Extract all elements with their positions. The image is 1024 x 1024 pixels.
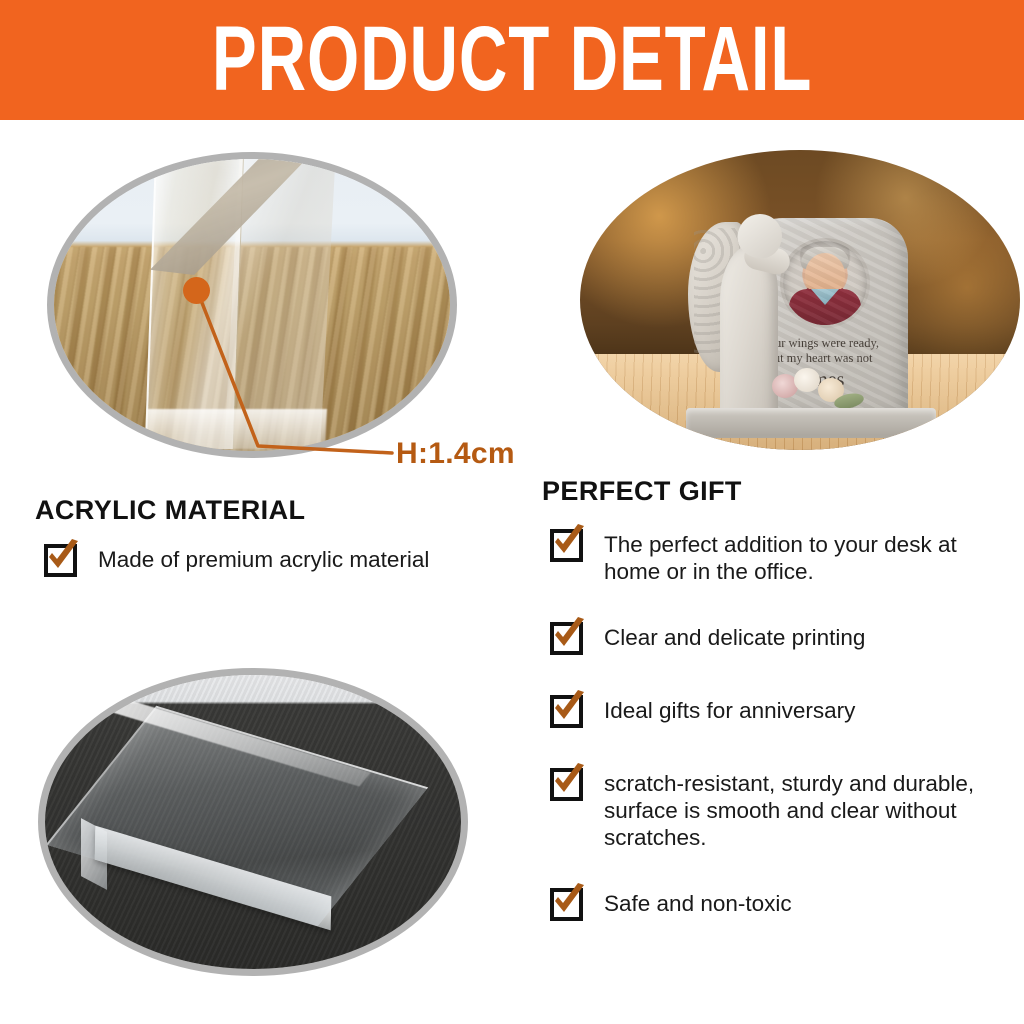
checkbox-icon <box>546 614 590 658</box>
product-detail-page: PRODUCT DETAIL Your wings were ready, bu… <box>0 0 1024 1024</box>
list-item-label: The perfect addition to your desk at hom… <box>590 525 1004 585</box>
list-item: scratch-resistant, sturdy and durable, s… <box>546 764 1016 851</box>
list-item-label: Safe and non-toxic <box>590 884 792 917</box>
photo-acrylic-slab-on-slate <box>38 668 468 976</box>
page-title: PRODUCT DETAIL <box>212 14 812 106</box>
photo-angel-memorial-product: Your wings were ready, but my heart was … <box>580 150 1020 450</box>
checkmark-icon <box>546 880 590 924</box>
list-item: Ideal gifts for anniversary <box>546 691 1016 731</box>
dimension-label: H:1.4cm <box>396 437 515 471</box>
portrait-sweater <box>789 289 861 328</box>
section-heading-perfect-gift: PERFECT GIFT <box>542 476 742 507</box>
list-item: The perfect addition to your desk at hom… <box>546 525 1016 585</box>
feature-list-perfect-gift: The perfect addition to your desk at hom… <box>546 525 1016 957</box>
page-header-banner: PRODUCT DETAIL <box>0 0 1024 120</box>
memorial-base-plinth <box>686 408 936 438</box>
list-item: Safe and non-toxic <box>546 884 1016 924</box>
feature-list-acrylic-material: Made of premium acrylic material <box>40 540 520 608</box>
checkbox-icon <box>546 521 590 565</box>
portrait-collar <box>811 289 839 305</box>
portrait-face <box>805 253 845 297</box>
checkmark-icon <box>546 760 590 804</box>
list-item-label: Ideal gifts for anniversary <box>590 691 855 724</box>
checkmark-icon <box>546 521 590 565</box>
list-item-label: Made of premium acrylic material <box>84 540 429 573</box>
checkmark-icon <box>40 536 84 580</box>
rose-white <box>794 368 820 392</box>
section-heading-acrylic-material: ACRYLIC MATERIAL <box>35 495 305 526</box>
checkbox-icon <box>546 880 590 924</box>
checkbox-icon <box>546 760 590 804</box>
portrait-hair <box>801 247 849 269</box>
checkmark-icon <box>546 614 590 658</box>
checkbox-icon <box>546 687 590 731</box>
checkbox-icon <box>40 536 84 580</box>
dimension-callout-dot <box>183 277 210 304</box>
list-item: Clear and delicate printing <box>546 618 1016 658</box>
list-item: Made of premium acrylic material <box>40 540 520 580</box>
list-item-label: scratch-resistant, sturdy and durable, s… <box>590 764 1004 851</box>
checkmark-icon <box>546 687 590 731</box>
list-item-label: Clear and delicate printing <box>590 618 865 651</box>
